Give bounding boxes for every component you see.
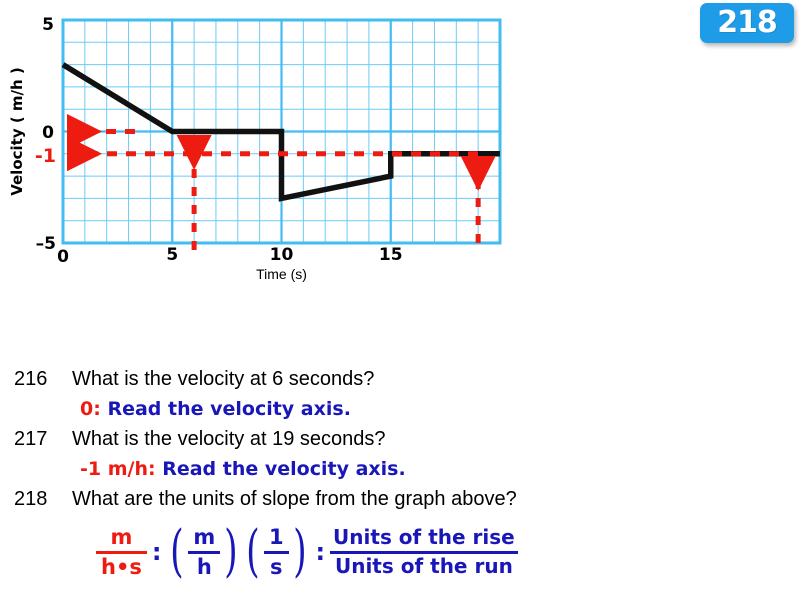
fraction-bar [96, 551, 147, 554]
answer-row: -1 m/h: Read the velocity axis. [0, 458, 800, 488]
definition-denominator: Units of the run [332, 556, 516, 578]
fraction-bar [264, 551, 289, 554]
xtick-label-0: 0 [57, 247, 69, 267]
fraction-bar [188, 551, 220, 554]
factor1-numerator: m [188, 526, 220, 549]
paren-open-icon: ( [171, 532, 185, 572]
question-text: What is the velocity at 19 seconds? [72, 428, 386, 451]
factor-fraction-2: 1 s [264, 526, 289, 578]
ytick-label-0: 0 [42, 123, 54, 143]
question-row: 217 What is the velocity at 19 seconds? [0, 428, 800, 458]
answer-value: -1 m/h: [80, 458, 156, 480]
answer-value: 0: [80, 398, 101, 420]
factor-group-2: ( 1 s ) [242, 526, 310, 578]
question-row: 216 What is the velocity at 6 seconds? [0, 368, 800, 398]
factor-fraction-1: m h [188, 526, 220, 578]
paren-close-icon: ) [293, 532, 307, 572]
xtick-label-5: 5 [166, 245, 178, 265]
velocity-time-graph: 5 0 -1 –5 0 5 10 15 Time (s) Velocity ( … [0, 0, 540, 290]
question-number: 217 [0, 428, 72, 451]
graph-svg: 5 0 -1 –5 0 5 10 15 Time (s) Velocity ( … [0, 0, 540, 290]
result-numerator: m [105, 526, 137, 549]
colon-separator-2: : [315, 538, 325, 566]
xtick-label-10: 10 [270, 245, 294, 265]
slope-units-formula: m h•s : ( m h ) ( 1 s ) : Units of the r… [0, 512, 800, 592]
colon-separator-1: : [152, 538, 162, 566]
definition-numerator: Units of the rise [330, 527, 518, 549]
factor2-denominator: s [265, 556, 288, 579]
slide-number-label: 218 [717, 8, 777, 38]
x-axis-label: Time (s) [256, 266, 307, 282]
question-text: What are the units of slope from the gra… [72, 488, 517, 511]
question-number: 216 [0, 368, 72, 391]
answer-row: 0: Read the velocity axis. [0, 398, 800, 428]
result-fraction: m h•s [96, 526, 147, 578]
ytick-label-minus1: -1 [35, 145, 56, 167]
ytick-label-5: 5 [42, 15, 54, 35]
y-axis-label: Velocity ( m/h ) [8, 67, 26, 196]
question-list: 216 What is the velocity at 6 seconds? 0… [0, 368, 800, 518]
answer-explanation: Read the velocity axis. [156, 458, 406, 480]
factor-group-1: ( m h ) [166, 526, 242, 578]
slide-number-badge: 218 [700, 3, 794, 43]
question-block-216: 216 What is the velocity at 6 seconds? 0… [0, 368, 800, 428]
question-number: 218 [0, 488, 72, 511]
question-block-217: 217 What is the velocity at 19 seconds? … [0, 428, 800, 488]
paren-close-icon: ) [224, 532, 238, 572]
factor2-numerator: 1 [264, 526, 289, 549]
ytick-label-minus5: –5 [36, 234, 56, 254]
factor1-denominator: h [192, 556, 217, 579]
definition-fraction: Units of the rise Units of the run [330, 527, 518, 577]
xtick-label-15: 15 [379, 245, 403, 265]
question-text: What is the velocity at 6 seconds? [72, 368, 374, 391]
answer-explanation: Read the velocity axis. [101, 398, 351, 420]
result-denominator: h•s [96, 556, 147, 579]
paren-open-icon: ( [246, 532, 260, 572]
